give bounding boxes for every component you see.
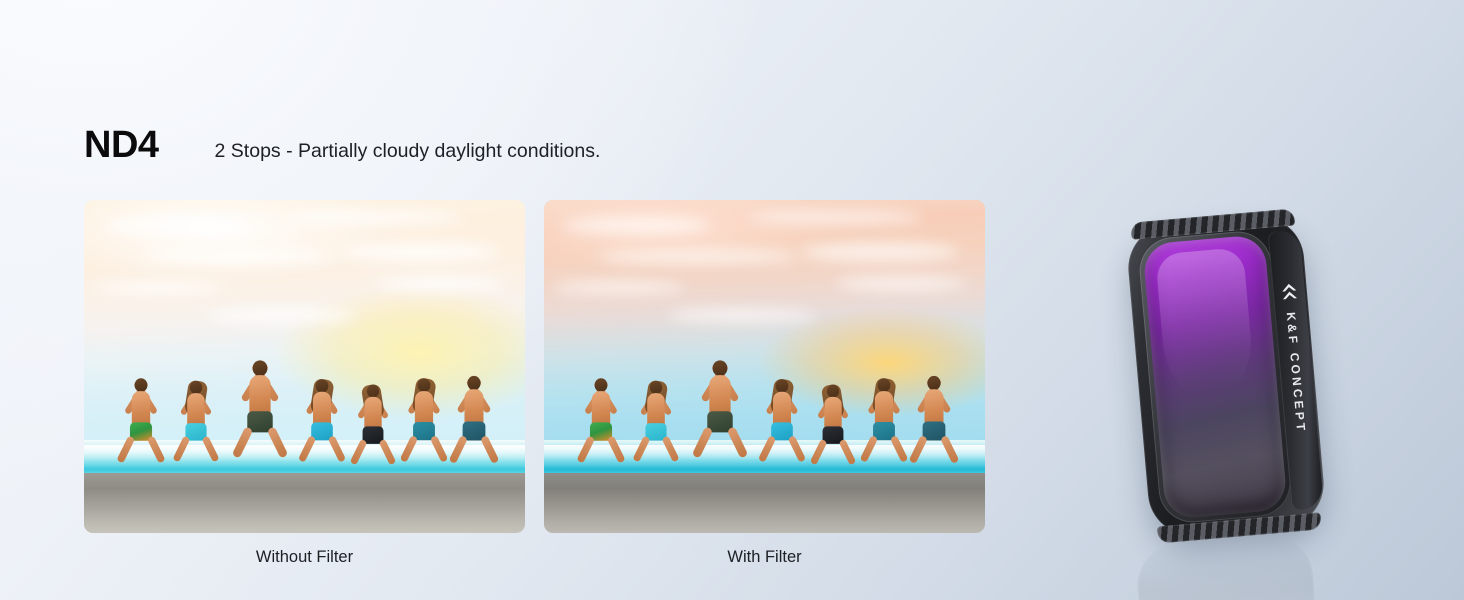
person-figure: [458, 362, 490, 449]
person-figure: [408, 366, 439, 453]
filter-glass: [1142, 234, 1288, 520]
person-figure: [358, 373, 388, 457]
caption-with-filter: With Filter: [544, 548, 985, 567]
person-figure: [307, 367, 338, 453]
photo-without-filter: [84, 200, 525, 533]
person-figure: [702, 346, 738, 444]
person-figure: [242, 346, 278, 444]
kf-logo-icon: [1280, 281, 1299, 301]
jumping-people: [544, 200, 985, 533]
person-figure: [818, 373, 848, 457]
photo-with-filter: [544, 200, 985, 533]
nd-filter-product: K&F CONCEPT: [1120, 206, 1350, 600]
person-figure: [181, 369, 211, 453]
comparison-left: Without Filter: [84, 200, 525, 567]
header: ND4 2 Stops - Partially cloudy daylight …: [84, 126, 600, 164]
caption-without-filter: Without Filter: [84, 548, 525, 567]
person-figure: [126, 365, 157, 450]
person-figure: [586, 365, 617, 450]
person-figure: [918, 362, 950, 449]
brand-name: K&F CONCEPT: [1284, 312, 1309, 435]
person-figure: [868, 366, 899, 453]
product-feature-panel: ND4 2 Stops - Partially cloudy daylight …: [0, 0, 1464, 600]
page-title: ND4: [84, 126, 159, 164]
page-subtitle: 2 Stops - Partially cloudy daylight cond…: [215, 142, 601, 162]
filter-bezel: [1137, 229, 1293, 525]
person-figure: [641, 369, 671, 453]
person-figure: [767, 367, 798, 453]
product-reflection: [1134, 531, 1318, 600]
filter-body: K&F CONCEPT: [1125, 213, 1328, 539]
jumping-people: [84, 200, 525, 533]
comparison-right: With Filter: [544, 200, 985, 567]
